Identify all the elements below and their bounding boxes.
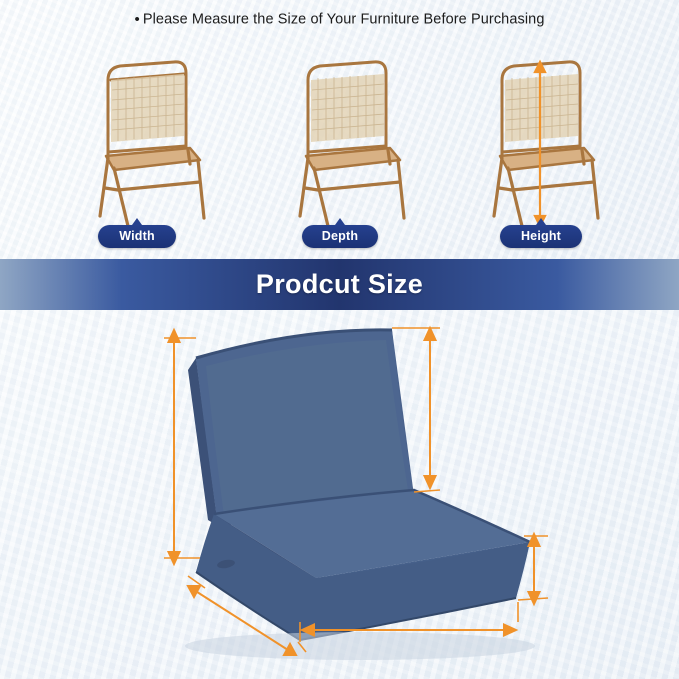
bullet-icon: •	[134, 11, 139, 28]
measure-section: •Please Measure the Size of Your Furnitu…	[0, 0, 679, 259]
badge-depth: Depth	[302, 225, 378, 248]
measure-note-text: Please Measure the Size of Your Furnitur…	[143, 11, 545, 27]
badge-pointer-icon	[132, 218, 142, 225]
measure-note: •Please Measure the Size of Your Furnitu…	[0, 11, 679, 28]
product-size-infographic: •Please Measure the Size of Your Furnitu…	[0, 0, 679, 679]
product-size-section: 27" 21" 24" 6" 24" 6 Inches	[0, 310, 679, 679]
section-title-band: Prodcut Size	[0, 259, 679, 310]
seat-cushion	[196, 490, 530, 640]
cushion-diagram	[0, 310, 679, 679]
badge-height-label: Height	[521, 229, 561, 243]
section-title: Prodcut Size	[256, 269, 423, 300]
badge-height: Height	[500, 225, 582, 248]
badge-pointer-icon	[536, 218, 546, 225]
badge-width: Width	[98, 225, 176, 248]
badge-pointer-icon	[335, 218, 345, 225]
chair-width-illustration	[48, 40, 228, 225]
chair-depth-illustration	[250, 40, 430, 225]
badge-width-label: Width	[119, 229, 155, 243]
chair-illustrations: Width Depth Height	[0, 40, 679, 240]
badge-depth-label: Depth	[322, 229, 358, 243]
chair-height-illustration	[452, 40, 632, 225]
